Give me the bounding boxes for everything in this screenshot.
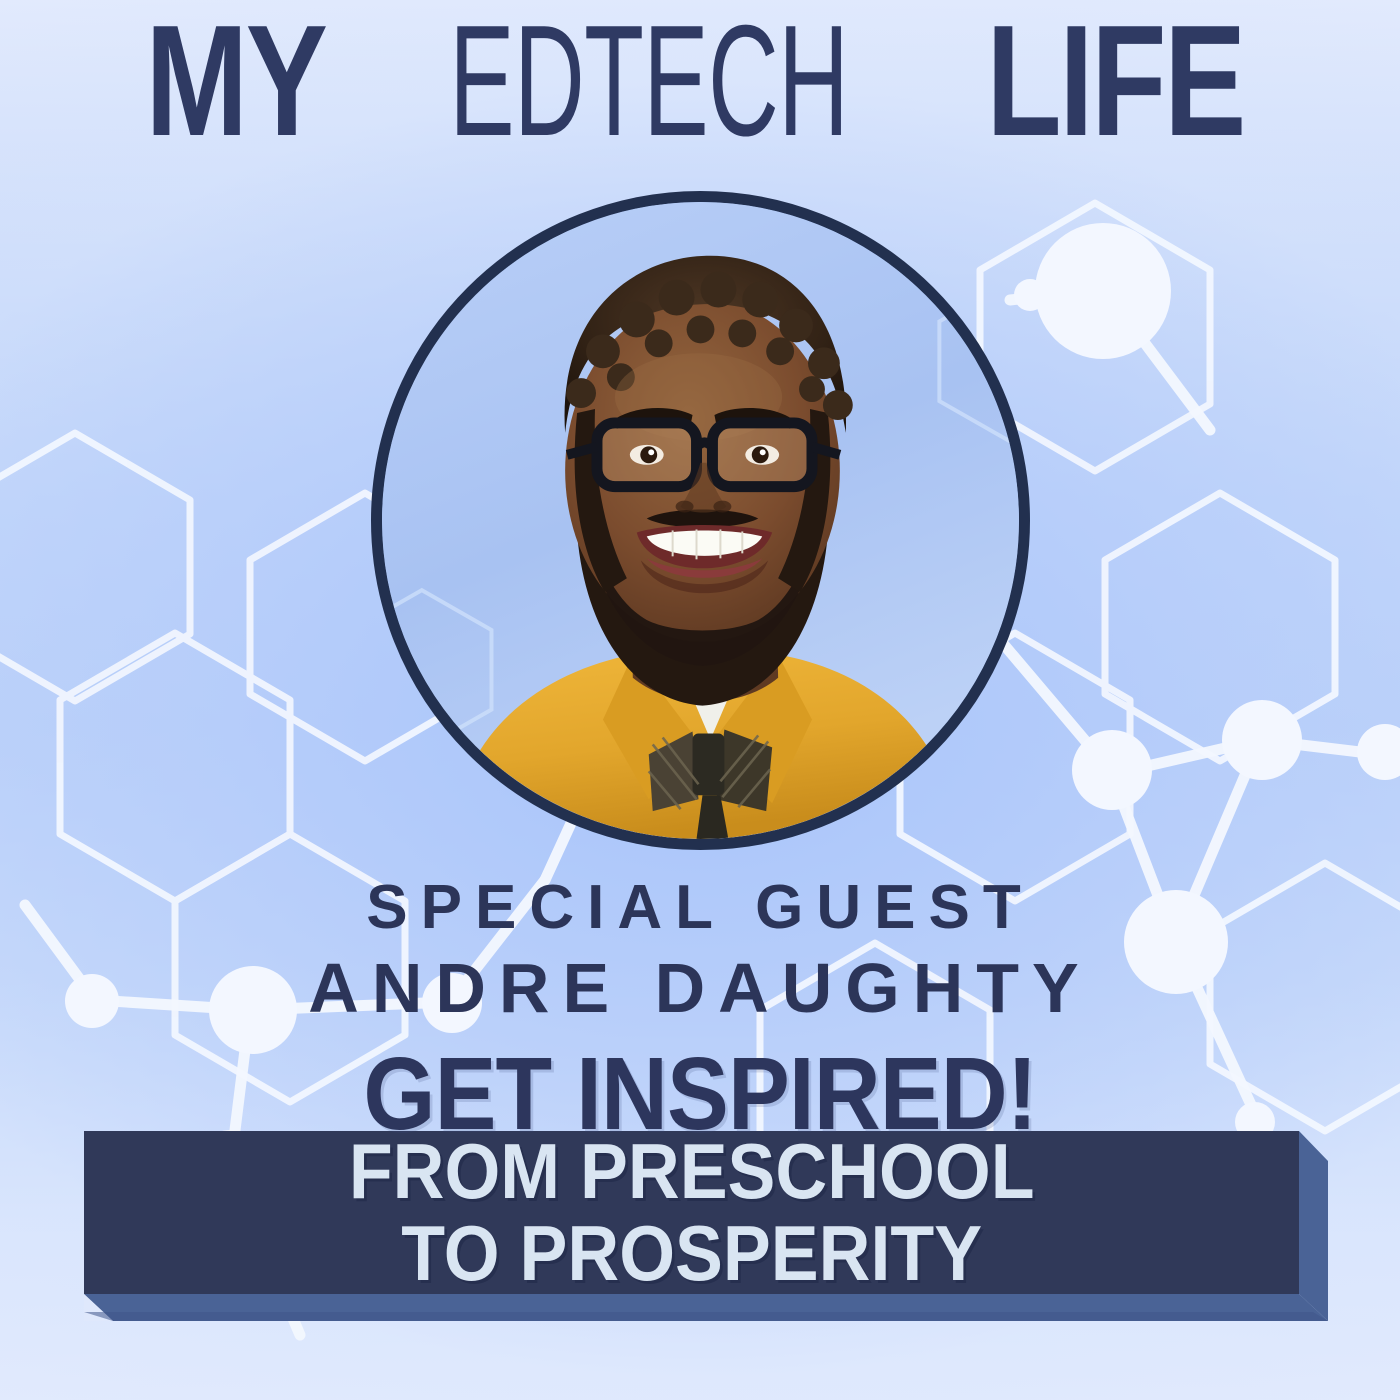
episode-subtitle-banner: FROM PRESCHOOL TO PROSPERITY <box>78 1131 1328 1331</box>
logo-text-edtech: EDTECH <box>449 2 848 160</box>
podcast-cover-art: MY EDTECH LIFE <box>0 0 1400 1400</box>
podcast-logo: MY EDTECH LIFE <box>0 0 1400 163</box>
guest-photo <box>382 202 1019 839</box>
guest-portrait-circle <box>371 191 1030 850</box>
guest-credit: SPECIAL GUEST ANDRE DAUGHTY <box>0 877 1400 1023</box>
banner-subtitle-text: FROM PRESCHOOL TO PROSPERITY <box>84 1131 1299 1294</box>
logo-text-life: LIFE <box>986 2 1244 160</box>
episode-headline-text: GET INSPIRED! <box>363 1042 1036 1145</box>
logo-text-my: MY <box>145 2 325 160</box>
subtitle-line-2: TO PROSPERITY <box>376 1213 1007 1294</box>
special-guest-label: SPECIAL GUEST <box>0 877 1400 939</box>
guest-name: ANDRE DAUGHTY <box>0 953 1400 1023</box>
episode-headline: GET INSPIRED! <box>0 1042 1400 1145</box>
